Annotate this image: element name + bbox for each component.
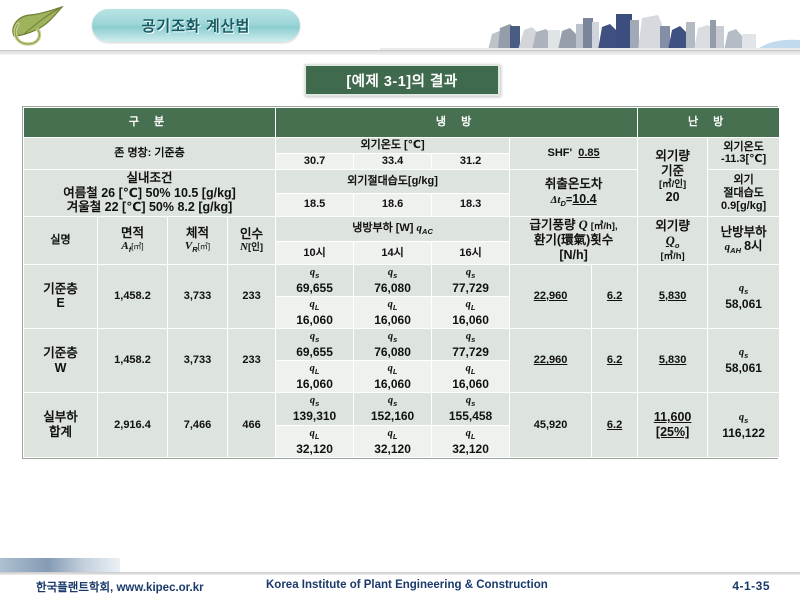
row-2-ql-sub-16: L [471, 432, 476, 441]
row-2-qs-value-14: 152,160 [356, 409, 429, 423]
row-0-qs-10: qs 69,655 [276, 264, 354, 296]
shf-value: 0.85 [578, 147, 599, 159]
row-2-name-line1: 실부하 [26, 410, 95, 425]
row-2-qs-sub-16: s [471, 400, 475, 409]
row-2-volume: 7,466 [168, 393, 228, 457]
leaf-clip-icon [8, 2, 92, 48]
row-2-qs-value-10: 139,310 [278, 409, 351, 423]
heating-load-hour: 8시 [744, 239, 762, 253]
row-2-qs-value-16: 155,458 [434, 409, 507, 423]
row-1-qs-sub-10: s [315, 335, 319, 344]
heating-outdoor-temp-cell: 외기온도 -11.3[℃] [708, 138, 780, 170]
row-1-heating-value: 58,061 [710, 361, 777, 375]
col-header-area: 면적 Af[㎡] [98, 217, 168, 264]
city-skyline-image [380, 0, 800, 52]
row-0-ql-10: qL 16,060 [276, 296, 354, 328]
row-1-qs-14: qs 76,080 [354, 329, 432, 361]
row-0-ql-value-14: 16,060 [356, 313, 429, 327]
row-0-qs-14: qs 76,080 [354, 264, 432, 296]
header-cooling: 냉 방 [276, 108, 638, 138]
supply-air-label: 급기풍량 [530, 218, 576, 232]
row-0-oa-flow: 5,830 [638, 264, 708, 328]
table-row: 기준층 E 1,458.2 3,733 233 qs 69,655 qs 76,… [24, 264, 780, 296]
table-col-header-row-a: 실명 면적 Af[㎡] 체적 VR[㎥] 인수 N[인] 냉방부하 [W] qA… [24, 217, 780, 242]
row-1-area: 1,458.2 [98, 329, 168, 393]
row-1-ql-value-10: 16,060 [278, 377, 351, 391]
row-1-name: 기준층 W [24, 329, 98, 393]
row-1-qs-sub-16: s [471, 335, 475, 344]
heating-humid-value: 0.9[g/kg] [710, 200, 777, 213]
footer-korean-text: 한국플랜트학회, www.kipec.or.kr [36, 579, 204, 595]
row-1-heating: qs 58,061 [708, 329, 780, 393]
row-1-oa-flow: 5,830 [638, 329, 708, 393]
supply-dt-symbol: Δt [550, 194, 560, 206]
table-row: 실부하 합계 2,916.4 7,466 466 qs 139,310 qs 1… [24, 393, 780, 425]
row-1-ql-sub-16: L [471, 367, 476, 376]
row-0-name-line2: E [26, 296, 95, 311]
row-1-qs-value-16: 77,729 [434, 345, 507, 359]
row-0-area: 1,458.2 [98, 264, 168, 328]
row-2-supply-air: 45,920 [510, 393, 592, 457]
col-header-persons: 인수 N[인] [228, 217, 276, 264]
col-header-heating-load: 난방부하 qAH 8시 [708, 217, 780, 264]
row-2-qs-sub-14: s [393, 400, 397, 409]
outdoor-temp-16: 31.2 [432, 153, 510, 169]
oa-basis-value: 20 [640, 190, 705, 205]
row-2-name-line2: 합계 [26, 425, 95, 440]
row-2-ql-sub-14: L [393, 432, 398, 441]
col-header-hour-14: 14시 [354, 242, 432, 264]
col-header-area-symbol: A [121, 240, 128, 252]
row-0-ql-sub-16: L [471, 303, 476, 312]
row-2-heating: qs 116,122 [708, 393, 780, 457]
shf-label: SHF' [547, 147, 572, 159]
row-0-ql-sub-10: L [315, 303, 320, 312]
row-2-qs-14: qs 152,160 [354, 393, 432, 425]
heating-outdoor-humid-cell: 외기 절대습도 0.9[g/kg] [708, 169, 780, 216]
col-header-supply-air: 급기풍량 Q [㎥/h], 환기(環氣)횟수 [N/h] [510, 217, 638, 264]
row-1-persons: 233 [228, 329, 276, 393]
row-0-qs-16: qs 77,729 [432, 264, 510, 296]
outdoor-humid-10: 18.5 [276, 193, 354, 217]
heating-outdoor-temp-label: 외기온도 [710, 141, 777, 154]
row-1-qs-sub-14: s [393, 335, 397, 344]
col-header-cooling-load: 냉방부하 [W] qAC [276, 217, 510, 242]
row-0-ql-value-16: 16,060 [434, 313, 507, 327]
brand-title-text: 공기조화 계산법 [142, 15, 251, 36]
row-0-qs-sub-16: s [471, 271, 475, 280]
row-0-qs-sub-14: s [393, 271, 397, 280]
row-1-name-line1: 기준층 [26, 346, 95, 361]
row-0-supply-air: 22,960 [510, 264, 592, 328]
row-2-name: 실부하 합계 [24, 393, 98, 457]
row-1-qs-10: qs 69,655 [276, 329, 354, 361]
row-2-ql-10: qL 32,120 [276, 425, 354, 457]
row-1-heating-sub: s [744, 351, 748, 360]
col-header-volume-unit: [㎥] [198, 242, 210, 251]
row-1-ql-14: qL 16,060 [354, 361, 432, 393]
row-0-qs-value-10: 69,655 [278, 281, 351, 295]
outdoor-temp-14: 33.4 [354, 153, 432, 169]
oa-basis-unit: [㎥/인] [640, 179, 705, 190]
row-2-ql-value-16: 32,120 [434, 442, 507, 456]
row-2-oa-flow: 11,600 [25%] [638, 393, 708, 457]
row-0-ql-value-10: 16,060 [278, 313, 351, 327]
slide-page: 공기조화 계산법 [예제 3-1]의 결과 구 분 [0, 0, 800, 600]
row-2-ql-14: qL 32,120 [354, 425, 432, 457]
row-0-ach: 6.2 [592, 264, 638, 328]
row-0-qs-sub-10: s [315, 271, 319, 280]
row-1-ql-value-14: 16,060 [356, 377, 429, 391]
oa-basis-cell: 외기량 기준 [㎥/인] 20 [638, 138, 708, 217]
heating-outdoor-temp-value: -11.3[℃] [710, 153, 777, 166]
supply-dt-label: 취출온도차 [512, 177, 635, 192]
row-1-ql-sub-10: L [315, 367, 320, 376]
oa-flow-sub: o [675, 241, 680, 250]
col-header-persons-label: 인수 [230, 227, 273, 242]
oa-basis-line1: 외기량 [640, 149, 705, 164]
shf-cell: SHF' 0.85 [510, 138, 638, 170]
footer-page-number: 4-1-35 [732, 579, 770, 593]
outdoor-humid-16: 18.3 [432, 193, 510, 217]
row-0-ql-16: qL 16,060 [432, 296, 510, 328]
row-0-qs-value-16: 77,729 [434, 281, 507, 295]
row-2-ql-sub-10: L [315, 432, 320, 441]
col-header-persons-symbol: N [240, 241, 248, 253]
supply-air-line2: 환기(環氣)횟수 [512, 233, 635, 248]
oa-flow-unit: [㎥/h] [640, 251, 705, 262]
col-header-oa-flow: 외기량 Qo [㎥/h] [638, 217, 708, 264]
col-header-volume-label: 체적 [170, 226, 225, 241]
row-0-name-line1: 기준층 [26, 282, 95, 297]
row-2-heating-value: 116,122 [710, 426, 777, 440]
row-1-ql-10: qL 16,060 [276, 361, 354, 393]
supply-air-unit: [㎥/h], [591, 221, 618, 232]
col-header-area-unit: [㎡] [131, 242, 143, 251]
row-1-ach: 6.2 [592, 329, 638, 393]
header-category: 구 분 [24, 108, 276, 138]
col-header-persons-unit: [인] [248, 242, 263, 253]
row-0-name: 기준층 E [24, 264, 98, 328]
brand-title-pill: 공기조화 계산법 [92, 9, 300, 42]
row-0-ql-14: qL 16,060 [354, 296, 432, 328]
table-row-zone-and-oatemp-label: 존 명창: 기준층 외기온도 [℃] SHF' 0.85 외기량 기준 [㎥/인… [24, 138, 780, 154]
row-1-qs-value-10: 69,655 [278, 345, 351, 359]
row-1-ql-value-16: 16,060 [434, 377, 507, 391]
row-1-qs-16: qs 77,729 [432, 329, 510, 361]
row-0-volume: 3,733 [168, 264, 228, 328]
row-2-area: 2,916.4 [98, 393, 168, 457]
row-0-ql-sub-14: L [393, 303, 398, 312]
outdoor-humid-label: 외기절대습도[g/kg] [276, 169, 510, 193]
outdoor-temp-label: 외기온도 [℃] [276, 138, 510, 154]
table-group-header-row: 구 분 냉 방 난 방 [24, 108, 780, 138]
supply-air-line3: [N/h] [512, 248, 635, 263]
cooling-load-label: 냉방부하 [W] [352, 222, 413, 234]
row-2-persons: 466 [228, 393, 276, 457]
row-0-qs-value-14: 76,080 [356, 281, 429, 295]
row-0-heating-value: 58,061 [710, 297, 777, 311]
cooling-load-sub: AC [422, 227, 433, 236]
results-table-container: 구 분 냉 방 난 방 존 명창: 기준층 외기온도 [℃] SHF' 0.85… [22, 106, 778, 459]
outdoor-humid-14: 18.6 [354, 193, 432, 217]
zone-name-cell: 존 명창: 기준층 [24, 138, 276, 170]
row-2-qs-16: qs 155,458 [432, 393, 510, 425]
supply-dt-value: 10.4 [572, 192, 596, 206]
row-2-qs-sub-10: s [315, 400, 319, 409]
results-table: 구 분 냉 방 난 방 존 명창: 기준층 외기온도 [℃] SHF' 0.85… [23, 107, 780, 458]
heating-load-sub: AH [730, 246, 741, 255]
heating-load-label: 난방부하 [710, 225, 777, 240]
row-0-heating: qs 58,061 [708, 264, 780, 328]
row-2-heating-sub: s [744, 416, 748, 425]
row-1-ql-16: qL 16,060 [432, 361, 510, 393]
row-2-ql-value-14: 32,120 [356, 442, 429, 456]
oa-flow-symbol: Q [666, 234, 675, 248]
slide-title-box: [예제 3-1]의 결과 [304, 64, 500, 96]
row-2-oa-flow-value: 11,600 [640, 410, 705, 425]
row-1-name-line2: W [26, 361, 95, 376]
oa-basis-line2: 기준 [640, 164, 705, 179]
col-header-hour-10: 10시 [276, 242, 354, 264]
top-banner: 공기조화 계산법 [0, 0, 800, 52]
row-1-supply-air: 22,960 [510, 329, 592, 393]
col-header-area-label: 면적 [100, 226, 165, 241]
indoor-condition-cell: 실내조건 여름철 26 [℃] 50% 10.5 [g/kg] 겨울철 22 [… [24, 169, 276, 216]
heating-humid-label-1: 외기 [710, 174, 777, 187]
indoor-cond-summer: 여름철 26 [℃] 50% 10.5 [g/kg] [26, 186, 273, 201]
col-header-volume: 체적 VR[㎥] [168, 217, 228, 264]
supply-air-symbol: Q [579, 218, 588, 232]
slide-title-text: [예제 3-1]의 결과 [346, 70, 457, 91]
col-header-room-name: 실명 [24, 217, 98, 264]
row-0-heating-sub: s [744, 287, 748, 296]
supply-dt-cell: 취출온도차 ΔtD=10.4 [510, 169, 638, 216]
indoor-cond-winter: 겨울철 22 [℃] 50% 8.2 [g/kg] [26, 200, 273, 215]
col-header-hour-16: 16시 [432, 242, 510, 264]
row-1-ql-sub-14: L [393, 367, 398, 376]
footer-english-text: Korea Institute of Plant Engineering & C… [266, 579, 548, 591]
row-2-ql-value-10: 32,120 [278, 442, 351, 456]
header-heating: 난 방 [638, 108, 780, 138]
top-divider [0, 50, 800, 55]
row-2-ql-16: qL 32,120 [432, 425, 510, 457]
table-row: 기준층 W 1,458.2 3,733 233 qs 69,655 qs 76,… [24, 329, 780, 361]
footer-bar: 한국플랜트학회, www.kipec.or.kr Korea Institute… [0, 575, 800, 600]
row-1-volume: 3,733 [168, 329, 228, 393]
indoor-cond-title: 실내조건 [26, 171, 273, 186]
heating-humid-label-2: 절대습도 [710, 187, 777, 200]
row-2-qs-10: qs 139,310 [276, 393, 354, 425]
outdoor-temp-10: 30.7 [276, 153, 354, 169]
row-2-ach: 6.2 [592, 393, 638, 457]
row-0-persons: 233 [228, 264, 276, 328]
oa-flow-label: 외기량 [640, 219, 705, 234]
row-1-qs-value-14: 76,080 [356, 345, 429, 359]
row-2-oa-flow-pct: [25%] [640, 425, 705, 440]
